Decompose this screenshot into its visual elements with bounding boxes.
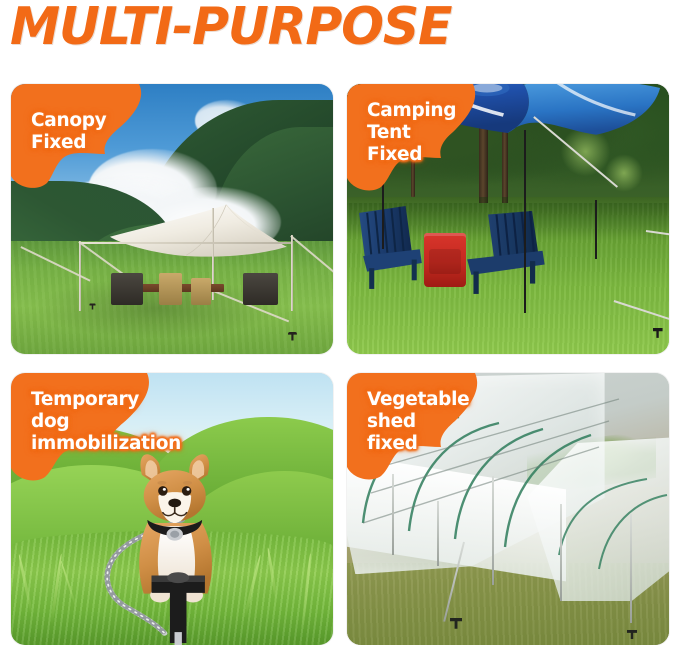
adirondack-chair-right [463,211,547,297]
anchor-rod-c [492,476,494,585]
use-case-panel-grid: Canopy Fixed [11,84,669,645]
gear-box-right [243,273,278,305]
anchor-rod-e [630,514,632,623]
use-case-panel-camping-tent: Camping Tent Fixed [347,84,669,354]
sun-dapple-b [605,154,644,192]
tent-pole-left [382,152,384,249]
anchor-rod-b [437,501,439,566]
anchor-rod-a [392,474,394,556]
page-title-text: MULTI-PURPOSE [10,1,451,53]
canopy-crossbar [79,242,292,244]
tent-pole-center [524,130,526,314]
picnic-table [140,284,224,292]
canopy-pole-right [291,235,293,311]
anchor-rod-right [595,200,597,259]
use-case-panel-vegetable-shed: Vegetable shed fixed [347,373,669,645]
photo-corgi-grass [11,373,333,645]
page-title: MULTI-PURPOSE [10,0,670,58]
camp-chair-a [159,273,182,305]
adirondack-chair-left [353,206,424,292]
camp-chair-b [191,278,210,305]
tunnel-frame-arcs [347,373,669,645]
photo-camping-tent-lawn [347,84,669,354]
blue-canopy-tent [353,84,662,149]
gear-box-left [111,273,143,305]
red-cooler [424,233,466,287]
photo-canopy-mountain [11,84,333,354]
use-case-panel-dog: Temporary dog immobilization [11,373,333,645]
ground-anchor-stake [146,569,210,645]
use-case-panel-canopy: Canopy Fixed [11,84,333,354]
photo-greenhouse-polytunnel [347,373,669,645]
anchor-rod-d [560,504,562,602]
